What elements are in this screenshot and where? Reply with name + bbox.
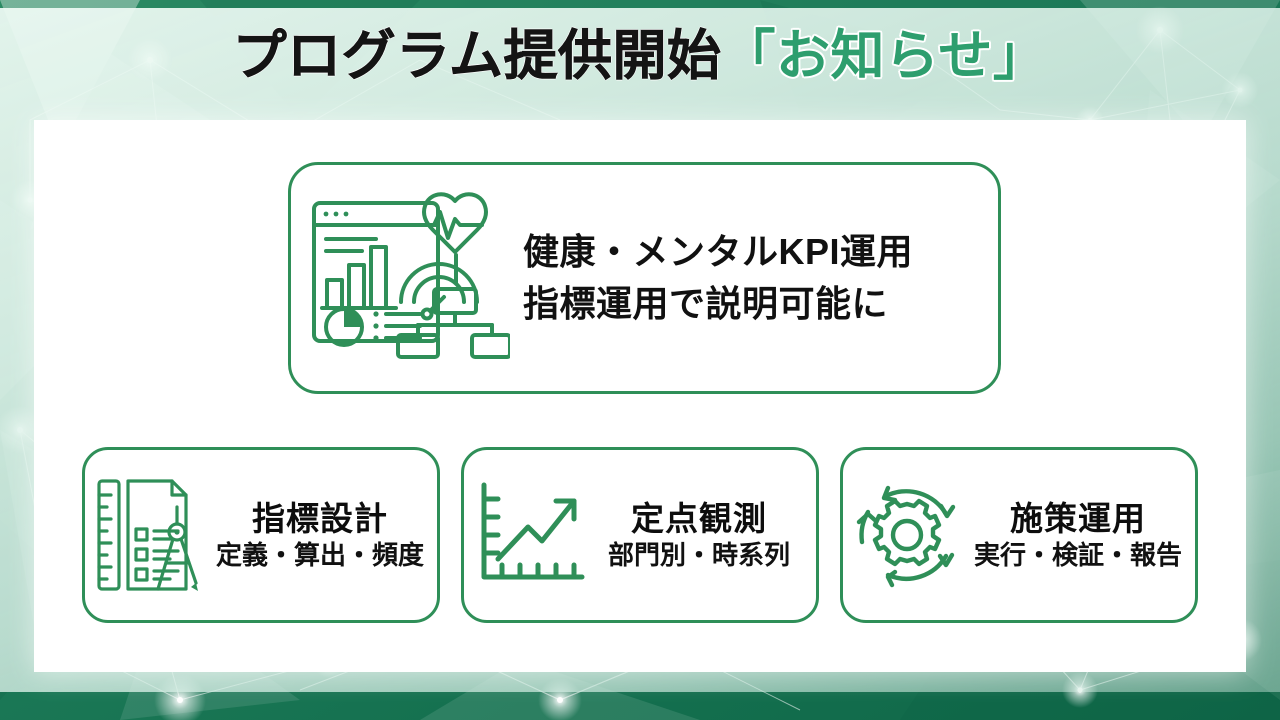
card-1-text: 指標設計 定義・算出・頻度 [213, 501, 437, 570]
growth-line-chart-icon [464, 479, 592, 591]
title-text-dark: プログラム提供開始 [233, 26, 722, 86]
feature-cards-row: 指標設計 定義・算出・頻度 [82, 447, 1198, 623]
card-shihyou-sekkei[interactable]: 指標設計 定義・算出・頻度 [82, 447, 440, 623]
ruler-document-compass-icon [85, 473, 213, 597]
card-1-title: 指標設計 [252, 501, 388, 537]
card-3-subtitle: 実行・検証・報告 [974, 541, 1182, 570]
gear-cycle-icon [843, 476, 971, 594]
card-teiten-kansoku[interactable]: 定点観測 部門別・時系列 [461, 447, 819, 623]
card-2-subtitle: 部門別・時系列 [608, 541, 790, 570]
page-title: プログラム提供開始「お知らせ」 [0, 28, 1280, 85]
card-1-subtitle: 定義・算出・頻度 [216, 541, 424, 570]
slide-root: プログラム提供開始「お知らせ」 [0, 0, 1280, 720]
hero-card[interactable]: 健康・メンタルKPI運用 指標運用で説明可能に [288, 162, 1001, 394]
hero-line-2: 指標運用で説明可能に [523, 284, 980, 324]
card-3-text: 施策運用 実行・検証・報告 [971, 501, 1195, 570]
card-2-title: 定点観測 [631, 501, 767, 537]
card-sesaku-unyou[interactable]: 施策運用 実行・検証・報告 [840, 447, 1198, 623]
card-2-text: 定点観測 部門別・時系列 [592, 501, 816, 570]
card-3-title: 施策運用 [1010, 501, 1146, 537]
hero-text-block: 健康・メンタルKPI運用 指標運用で説明可能に [523, 232, 998, 323]
title-text-green: 「お知らせ」 [721, 26, 1047, 86]
kpi-dashboard-icon [291, 185, 523, 371]
hero-line-1: 健康・メンタルKPI運用 [523, 232, 980, 272]
